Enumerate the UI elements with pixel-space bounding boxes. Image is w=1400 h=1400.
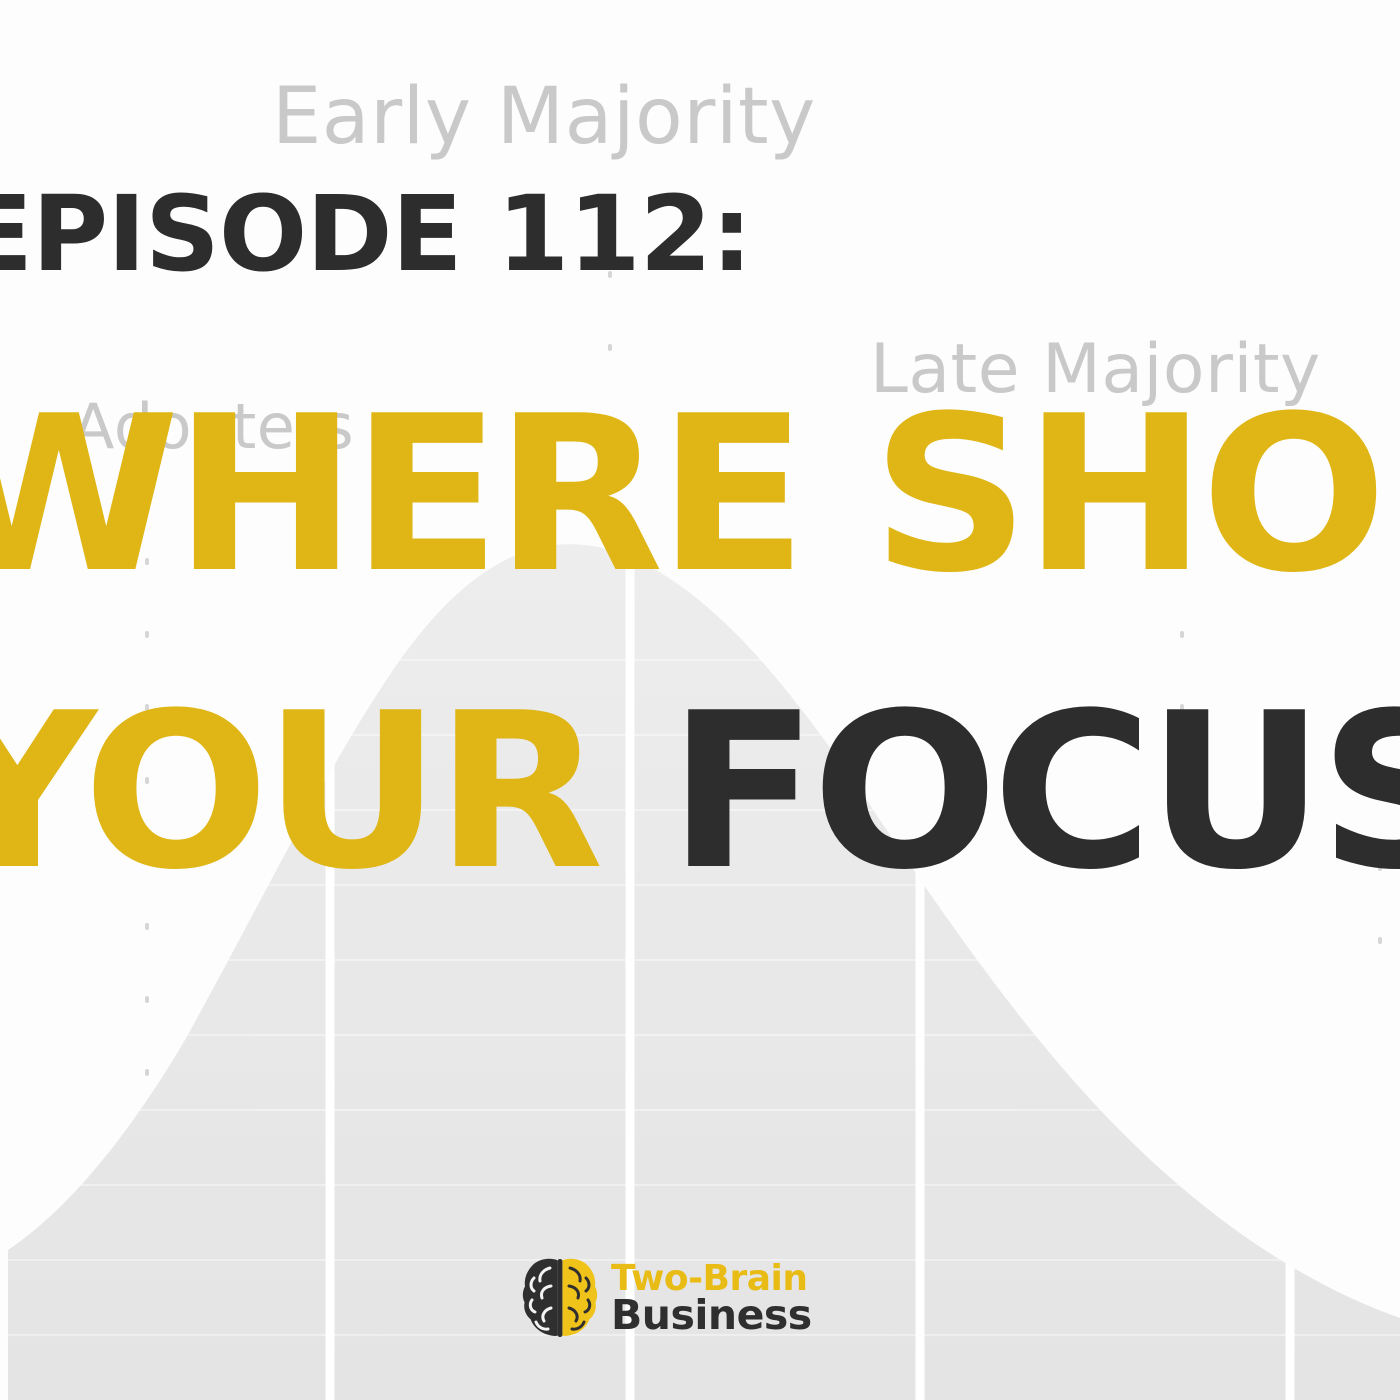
headline: WHERE SHOULD YOUR FOCUS BE: [0, 400, 1400, 886]
chart-label-early-majority: Early Majority: [272, 72, 816, 162]
logo-wordmark: Two-Brain Business: [611, 1262, 812, 1334]
headline-line-2: YOUR FOCUS BE: [0, 697, 1400, 886]
episode-label: EPISODE 112:: [0, 182, 752, 286]
brain-icon: [521, 1256, 599, 1340]
podcast-cover-art: Early Majority Late Majority Adopters EP…: [0, 0, 1400, 1400]
headline-line-1: WHERE SHOULD: [0, 400, 1400, 589]
brand-logo: Two-Brain Business: [521, 1256, 812, 1340]
logo-line-business: Business: [611, 1296, 812, 1335]
headline-word-focus: FOCUS: [668, 666, 1400, 917]
headline-word-your: YOUR: [0, 666, 668, 917]
